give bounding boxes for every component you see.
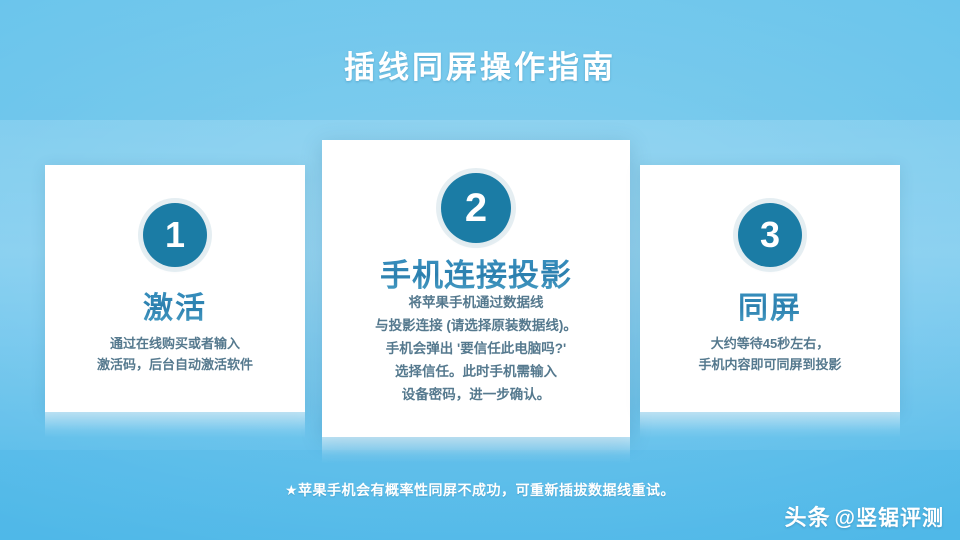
card-reflection-1	[45, 412, 305, 438]
step-body-1: 通过在线购买或者输入 激活码，后台自动激活软件	[45, 333, 305, 375]
step-number-badge-3: 3	[738, 203, 802, 267]
step-card-2-inner: 2 手机连接投影 将苹果手机通过数据线 与投影连接 (请选择原装数据线)。 手机…	[322, 140, 630, 437]
step-body-3: 大约等待45秒左右， 手机内容即可同屏到投影	[640, 333, 900, 375]
step-card-3[interactable]: 3 同屏 大约等待45秒左右， 手机内容即可同屏到投影	[640, 165, 900, 412]
step-card-2[interactable]: 2 手机连接投影 将苹果手机通过数据线 与投影连接 (请选择原装数据线)。 手机…	[322, 140, 630, 437]
step-card-1-inner: 1 激活 通过在线购买或者输入 激活码，后台自动激活软件	[45, 165, 305, 412]
card-reflection-3	[640, 412, 900, 438]
watermark-platform: 头条	[785, 500, 831, 532]
step-heading-3: 同屏	[640, 283, 900, 327]
page-title: 插线同屏操作指南	[0, 42, 960, 87]
footnote-text: ★苹果手机会有概率性同屏不成功，可重新插拔数据线重试。	[0, 480, 960, 500]
step-body-2: 将苹果手机通过数据线 与投影连接 (请选择原装数据线)。 手机会弹出 '要信任此…	[322, 292, 630, 407]
step-card-1[interactable]: 1 激活 通过在线购买或者输入 激活码，后台自动激活软件	[45, 165, 305, 412]
step-number-badge-2: 2	[441, 173, 511, 243]
step-number-badge-1: 1	[143, 203, 207, 267]
card-reflection-2	[322, 437, 630, 463]
step-heading-1: 激活	[45, 283, 305, 327]
step-heading-2: 手机连接投影	[322, 250, 630, 295]
watermark-handle: @竖锯评测	[835, 502, 944, 532]
step-card-3-inner: 3 同屏 大约等待45秒左右， 手机内容即可同屏到投影	[640, 165, 900, 412]
watermark: 头条 @竖锯评测	[785, 500, 945, 532]
slide-canvas: 插线同屏操作指南 1 激活 通过在线购买或者输入 激活码，后台自动激活软件 2 …	[0, 0, 960, 540]
